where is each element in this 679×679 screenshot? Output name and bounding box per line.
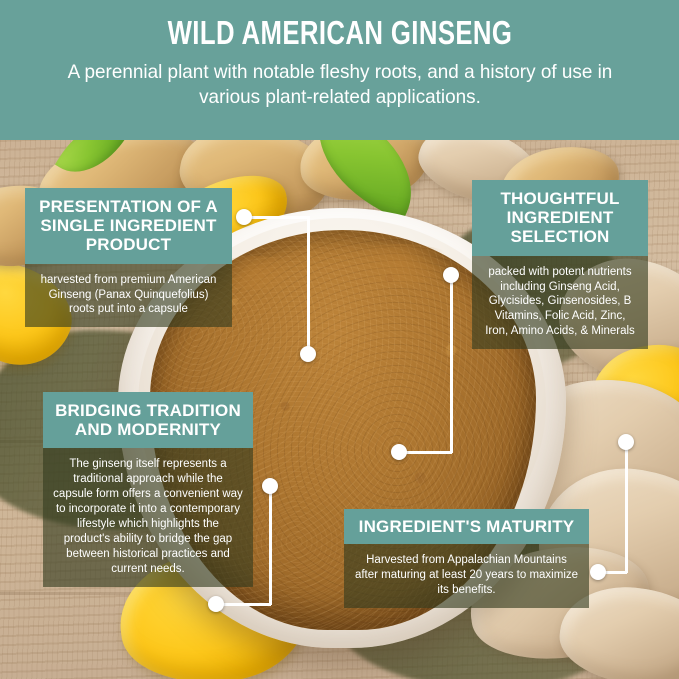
- callout-card-presentation: PRESENTATION OF A SINGLE INGREDIENT PROD…: [25, 188, 232, 327]
- ginseng-infographic: WILD AMERICAN GINSENG A perennial plant …: [0, 0, 679, 679]
- connector-dot-selection-target: [391, 444, 407, 460]
- connector-dot-presentation-card: [236, 209, 252, 225]
- connector-dot-presentation-target: [300, 346, 316, 362]
- connector-line-presentation: [307, 216, 310, 354]
- callout-card-selection: THOUGHTFUL INGREDIENT SELECTION packed w…: [472, 180, 648, 349]
- callout-title-selection: THOUGHTFUL INGREDIENT SELECTION: [472, 180, 648, 256]
- page-title: WILD AMERICAN GINSENG: [167, 16, 512, 51]
- powder-spill: [340, 244, 460, 284]
- connector-dot-maturity-target: [618, 434, 634, 450]
- connector-line-maturity: [625, 441, 628, 573]
- connector-dot-bridging-card: [262, 478, 278, 494]
- callout-body-presentation: harvested from premium American Ginseng …: [25, 264, 232, 328]
- connector-dot-selection-card: [443, 267, 459, 283]
- connector-line-bridging: [269, 485, 272, 605]
- callout-card-maturity: INGREDIENT'S MATURITY Harvested from App…: [344, 509, 589, 608]
- callout-title-maturity: INGREDIENT'S MATURITY: [344, 509, 589, 544]
- connector-line-bridging: [216, 603, 271, 606]
- callout-title-presentation: PRESENTATION OF A SINGLE INGREDIENT PROD…: [25, 188, 232, 264]
- page-subtitle: A perennial plant with notable fleshy ro…: [49, 60, 631, 111]
- callout-body-selection: packed with potent nutrients including G…: [472, 256, 648, 350]
- connector-line-selection: [450, 274, 453, 453]
- callout-body-maturity: Harvested from Appalachian Mountains aft…: [344, 544, 589, 608]
- header-banner: WILD AMERICAN GINSENG A perennial plant …: [0, 0, 679, 140]
- connector-line-presentation: [244, 216, 310, 219]
- connector-dot-bridging-target: [208, 596, 224, 612]
- callout-card-bridging: BRIDGING TRADITION AND MODERNITY The gin…: [43, 392, 253, 587]
- callout-title-bridging: BRIDGING TRADITION AND MODERNITY: [43, 392, 253, 448]
- connector-dot-maturity-card: [590, 564, 606, 580]
- callout-body-bridging: The ginseng itself represents a traditio…: [43, 448, 253, 587]
